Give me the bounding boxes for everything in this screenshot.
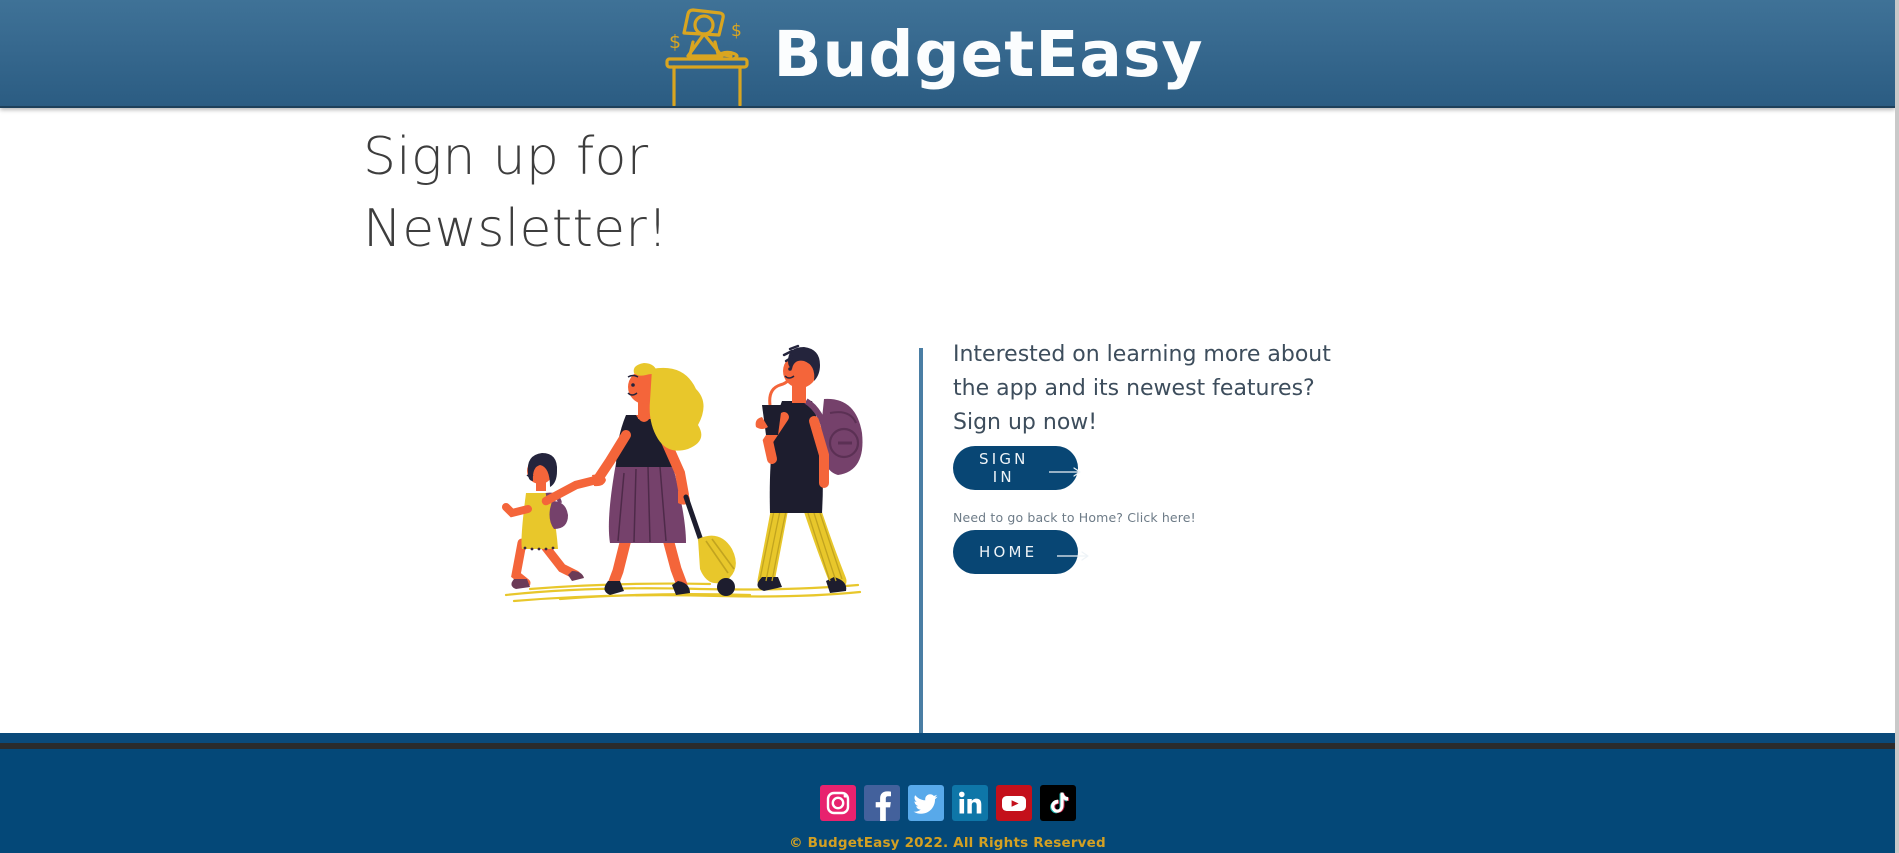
sign-in-label: SIGN IN [979,450,1029,486]
tiktok-icon[interactable] [1040,785,1076,821]
window-right-edge [1895,0,1899,853]
panel-description: Interested on learning more about the ap… [953,338,1343,440]
main-content: Sign up for Newsletter! [0,108,1895,728]
site-footer: © BudgetEasy 2022. All Rights Reserved [0,749,1895,853]
site-header: $ $ BudgetEasy [0,0,1895,108]
twitter-icon[interactable] [908,785,944,821]
home-button[interactable]: HOME [953,530,1078,574]
social-links [0,785,1895,821]
vertical-divider [919,348,923,763]
facebook-icon[interactable] [864,785,900,821]
sign-in-button[interactable]: SIGN IN [953,446,1078,490]
arrow-right-icon [1057,547,1091,557]
header-underline [0,106,1895,108]
page-root: $ $ BudgetEasy Sign up for Newsletter! [0,0,1899,853]
brand-name: BudgetEasy [773,23,1203,86]
svg-text:$: $ [731,21,742,41]
instagram-icon[interactable] [820,785,856,821]
person-at-desk-money-icon: $ $ [655,2,759,106]
footer-top-bar [0,733,1895,743]
arrow-right-icon [1049,463,1083,473]
family-travelers-illustration [500,343,880,611]
newsletter-panel: Interested on learning more about the ap… [953,338,1373,440]
page-title: Sign up for Newsletter! [363,122,883,266]
brand-logo[interactable]: $ $ BudgetEasy [655,2,1203,106]
home-hint-text[interactable]: Need to go back to Home? Click here! [953,510,1196,525]
linkedin-icon[interactable] [952,785,988,821]
youtube-icon[interactable] [996,785,1032,821]
copyright-text: © BudgetEasy 2022. All Rights Reserved [0,835,1895,851]
home-label: HOME [979,543,1037,561]
svg-text:$: $ [669,31,681,53]
